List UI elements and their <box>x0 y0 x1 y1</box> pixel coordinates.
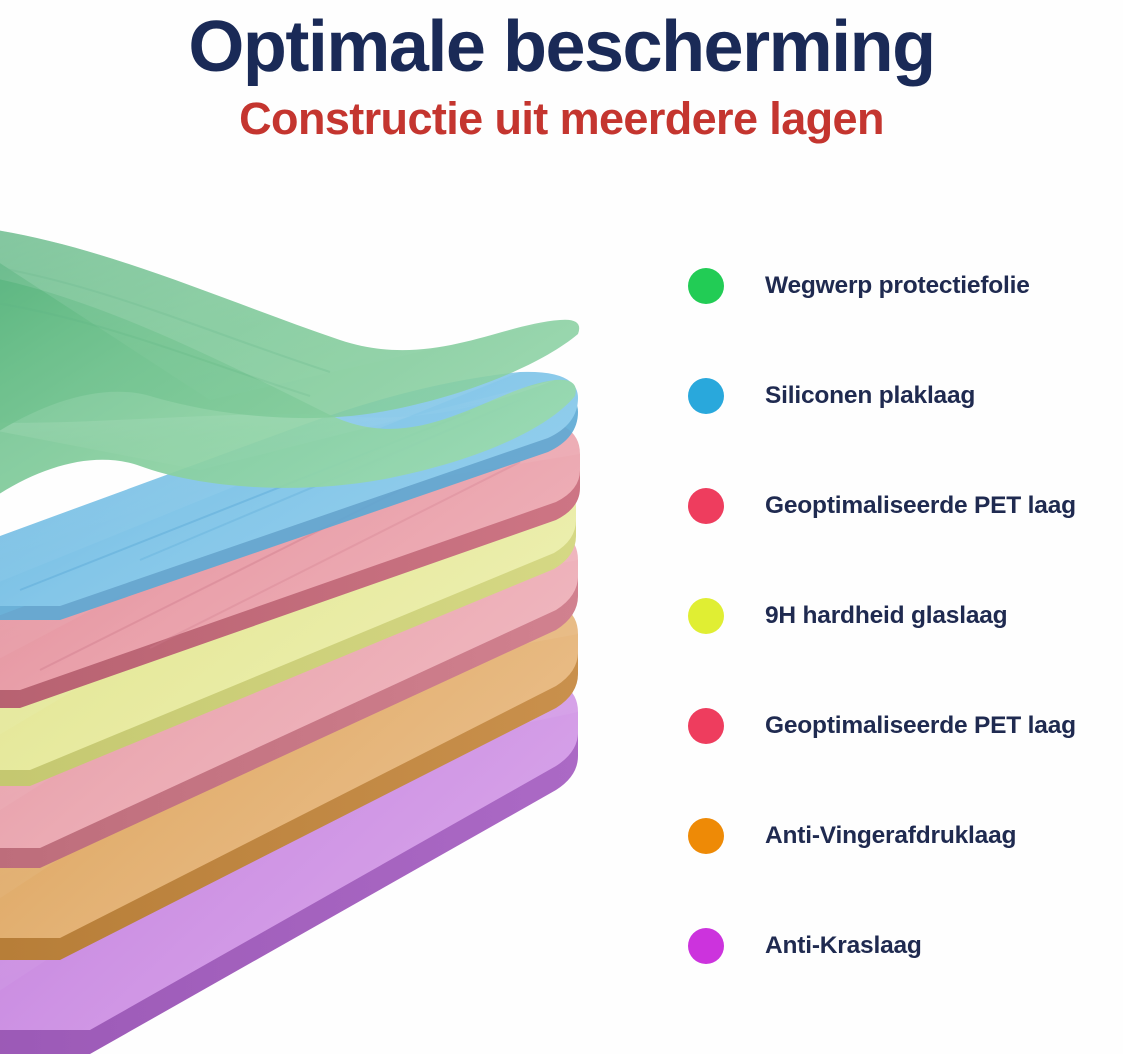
legend-item-geoptimaliseerde-pet-laag-2[interactable]: Geoptimaliseerde PET laag <box>688 702 1123 812</box>
circle-dot-icon <box>688 928 724 964</box>
legend-item-label: 9H hardheid glaslaag <box>765 592 1007 633</box>
legend-item-siliconen-plaklaag[interactable]: Siliconen plaklaag <box>688 372 1123 482</box>
legend-item-label: Wegwerp protectiefolie <box>765 262 1030 303</box>
legend-item-label: Anti-Vingerafdruklaag <box>765 812 1016 853</box>
layer-legend: Wegwerp protectiefolie Siliconen plaklaa… <box>688 262 1123 1032</box>
circle-dot-icon <box>688 378 724 414</box>
layer-stack-illustration <box>0 200 640 1054</box>
legend-item-geoptimaliseerde-pet-laag-1[interactable]: Geoptimaliseerde PET laag <box>688 482 1123 592</box>
legend-item-9h-hardheid-glaslaag[interactable]: 9H hardheid glaslaag <box>688 592 1123 702</box>
legend-item-label: Siliconen plaklaag <box>765 372 975 413</box>
circle-dot-icon <box>688 818 724 854</box>
legend-item-label: Anti-Kraslaag <box>765 922 922 963</box>
page-title: Optimale bescherming <box>0 0 1123 90</box>
circle-dot-icon <box>688 708 724 744</box>
legend-item-anti-vingerafdruklaag[interactable]: Anti-Vingerafdruklaag <box>688 812 1123 922</box>
legend-item-label: Geoptimaliseerde PET laag <box>765 702 1076 743</box>
circle-dot-icon <box>688 488 724 524</box>
legend-item-wegwerp-protectiefolie[interactable]: Wegwerp protectiefolie <box>688 262 1123 372</box>
header: Optimale bescherming Constructie uit mee… <box>0 0 1123 170</box>
page-subtitle: Constructie uit meerdere lagen <box>0 90 1123 146</box>
circle-dot-icon <box>688 268 724 304</box>
circle-dot-icon <box>688 598 724 634</box>
legend-item-anti-kraslaag[interactable]: Anti-Kraslaag <box>688 922 1123 1032</box>
legend-item-label: Geoptimaliseerde PET laag <box>765 482 1076 523</box>
